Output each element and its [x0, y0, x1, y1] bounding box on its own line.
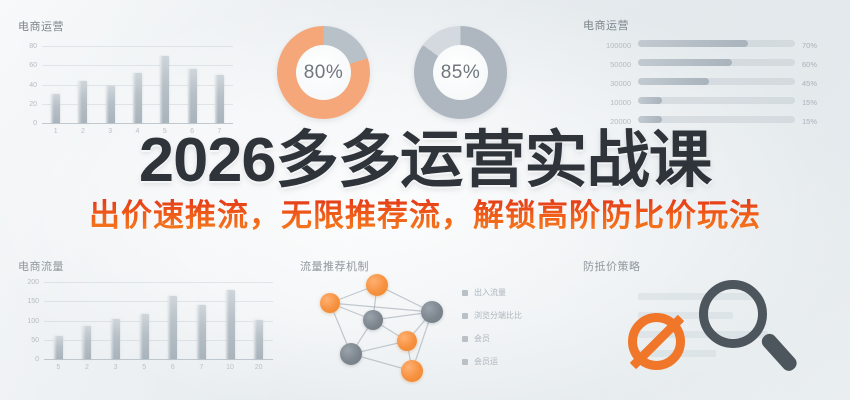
- donut-left-value: 80%: [304, 62, 344, 84]
- y-axis-tick-label: 40: [18, 82, 37, 89]
- panel-title-bottom-right: 防抵价策略: [583, 258, 641, 274]
- y-axis-tick-label: 0: [18, 356, 39, 363]
- hbar-value-label: 70%: [802, 41, 817, 50]
- legend-item: 浏览分端比比: [462, 310, 522, 321]
- network-node: [401, 360, 423, 382]
- page-subtitle: 出价速推流，无限推荐流，解锁高阶防比价玩法: [0, 198, 850, 234]
- y-axis-tick-label: 80: [18, 43, 37, 50]
- network-node: [363, 310, 383, 330]
- network-node: [340, 343, 362, 365]
- legend-label: 会员: [474, 333, 490, 344]
- hbar-fill: [638, 40, 748, 47]
- hbar-category-label: 100000: [583, 41, 631, 50]
- panel-title-top-right: 电商运营: [583, 17, 629, 33]
- gridline: [42, 46, 233, 47]
- hbar-category-label: 10000: [583, 98, 631, 107]
- hbar-category-label: 20000: [583, 117, 631, 126]
- bar: [51, 94, 60, 123]
- hbar-value-label: 45%: [802, 79, 817, 88]
- y-axis-tick-label: 200: [18, 279, 39, 286]
- no-entry-icon: [628, 313, 685, 370]
- bar: [215, 75, 224, 123]
- bar: [133, 73, 142, 123]
- y-axis-tick-label: 100: [18, 318, 39, 325]
- page-title: 2026多多运营实战课: [0, 128, 850, 194]
- hbar-category-label: 30000: [583, 79, 631, 88]
- hbar-fill: [638, 78, 709, 85]
- legend-label: 会员运: [474, 356, 498, 367]
- x-axis-tick-label: 5: [130, 364, 159, 371]
- poster-canvas: 电商运营 8060402001234567 80% 85% 电商运营 10000…: [0, 0, 850, 400]
- donut-chart-80: 80%: [277, 26, 370, 119]
- x-axis-tick-label: 20: [244, 364, 273, 371]
- hbar-track: [638, 116, 795, 123]
- y-axis-tick-label: 50: [18, 337, 39, 344]
- bar: [226, 290, 235, 359]
- hbar-value-label: 15%: [802, 117, 817, 126]
- chart-bottom-left-bars: 2001501005005235671020: [18, 278, 273, 373]
- bar: [106, 86, 115, 123]
- x-axis-tick-label: 6: [159, 364, 188, 371]
- chart-top-right-hbars: 10000070%5000060%3000045%1000015%2000015…: [583, 40, 828, 132]
- donut-right-value: 85%: [441, 62, 481, 84]
- bar: [82, 326, 91, 359]
- axis-baseline: [42, 123, 233, 124]
- y-axis-tick-label: 20: [18, 101, 37, 108]
- legend-label: 浏览分端比比: [474, 310, 522, 321]
- hbar-value-label: 15%: [802, 98, 817, 107]
- x-axis-tick-label: 2: [73, 364, 102, 371]
- legend-item: 会员: [462, 333, 490, 344]
- bar: [160, 56, 169, 123]
- network-node: [397, 331, 417, 351]
- chart-top-left-bars: 8060402001234567: [18, 42, 233, 137]
- x-axis-tick-label: 5: [44, 364, 73, 371]
- legend-swatch-icon: [462, 336, 468, 342]
- bar: [168, 296, 177, 359]
- y-axis-tick-label: 60: [18, 62, 37, 69]
- bar: [197, 305, 206, 359]
- x-axis-tick-label: 10: [216, 364, 245, 371]
- bar: [140, 314, 149, 359]
- legend-swatch-icon: [462, 313, 468, 319]
- bar: [188, 69, 197, 123]
- gridline: [44, 340, 273, 341]
- legend-item: 会员运: [462, 356, 498, 367]
- panel-title-bottom-left: 电商流量: [18, 258, 64, 274]
- donut-chart-85: 85%: [414, 26, 507, 119]
- hbar-fill: [638, 97, 662, 104]
- x-axis-tick-label: 7: [187, 364, 216, 371]
- legend-label: 出入流量: [474, 287, 506, 298]
- hbar-track: [638, 97, 795, 104]
- hbar-track: [638, 59, 795, 66]
- x-axis-tick-label: 3: [101, 364, 130, 371]
- y-axis-tick-label: 0: [18, 120, 37, 127]
- network-node: [366, 274, 388, 296]
- bar: [54, 336, 63, 359]
- hbar-category-label: 50000: [583, 60, 631, 69]
- network-node: [320, 293, 340, 313]
- legend-swatch-icon: [462, 359, 468, 365]
- hbar-value-label: 60%: [802, 60, 817, 69]
- bar: [254, 320, 263, 359]
- legend-swatch-icon: [462, 290, 468, 296]
- gridline: [44, 301, 273, 302]
- panel-title-top-left: 电商运营: [18, 18, 64, 34]
- bar: [111, 319, 120, 359]
- gridline: [44, 282, 273, 283]
- hbar-fill: [638, 116, 662, 123]
- hbar-track: [638, 40, 795, 47]
- bar: [78, 81, 87, 123]
- axis-baseline: [44, 359, 273, 360]
- magnifier-icon: [697, 278, 797, 378]
- hbar-fill: [638, 59, 732, 66]
- y-axis-tick-label: 150: [18, 298, 39, 305]
- gridline: [44, 321, 273, 322]
- legend-item: 出入流量: [462, 287, 506, 298]
- gridline: [42, 65, 233, 66]
- network-node: [421, 301, 443, 323]
- hbar-track: [638, 78, 795, 85]
